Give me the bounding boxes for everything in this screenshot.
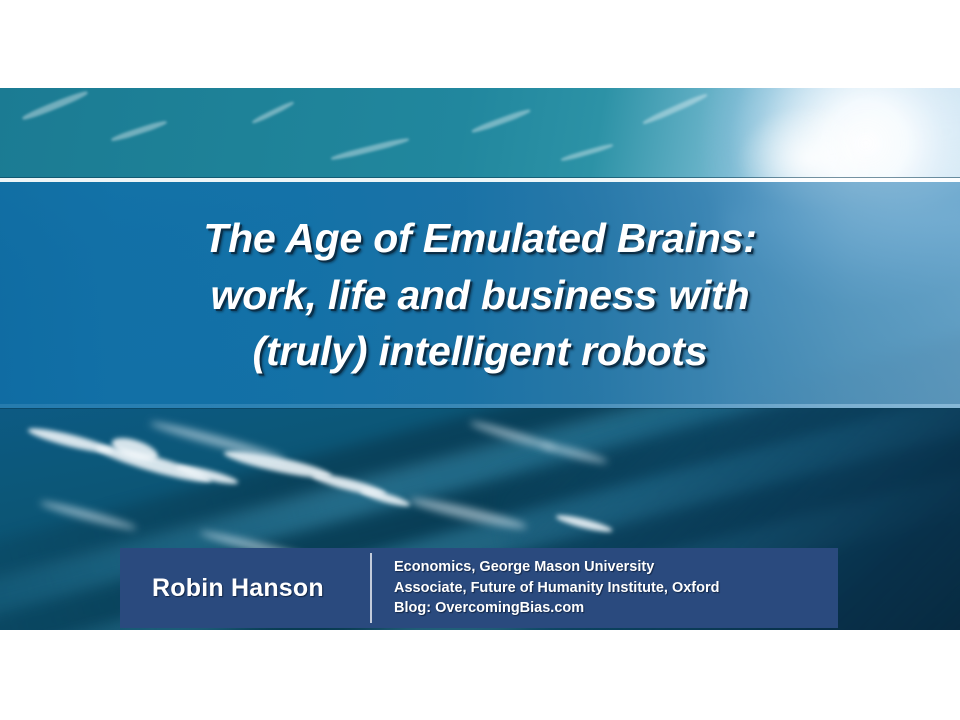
affiliation-line-2: Associate, Future of Humanity Institute,… — [394, 578, 719, 599]
title-line-2: work, life and business with — [30, 267, 930, 324]
presentation-slide: The Age of Emulated Brains: work, life a… — [0, 0, 960, 720]
author-block: Robin Hanson Economics, George Mason Uni… — [120, 548, 838, 628]
title-line-3: (truly) intelligent robots — [30, 323, 930, 380]
slide-title: The Age of Emulated Brains: work, life a… — [30, 210, 930, 380]
affiliation-line-3: Blog: OvercomingBias.com — [394, 598, 719, 619]
page-margin-top — [0, 0, 960, 88]
title-line-1: The Age of Emulated Brains: — [30, 210, 930, 267]
title-band-hairline-bottom — [0, 408, 960, 409]
affiliation-line-1: Economics, George Mason University — [394, 557, 719, 578]
page-margin-bottom — [0, 630, 960, 720]
author-affiliations: Economics, George Mason University Assoc… — [372, 557, 719, 619]
title-band: The Age of Emulated Brains: work, life a… — [0, 182, 960, 408]
author-name: Robin Hanson — [120, 574, 370, 603]
